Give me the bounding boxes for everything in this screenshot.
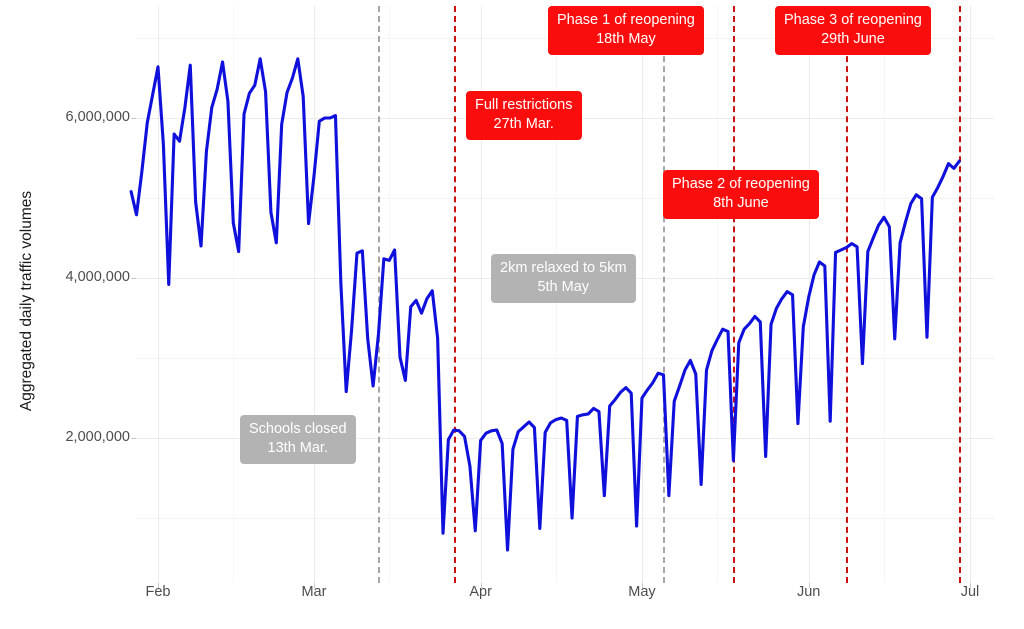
y-axis-tick-label: 6,000,000	[54, 109, 130, 125]
annotation-schools-closed: Schools closed13th Mar.	[240, 415, 356, 464]
x-axis-tick-mark	[314, 583, 315, 588]
y-axis-tick-mark	[131, 278, 136, 279]
annotation-line-1: Phase 1 of reopening	[557, 11, 695, 30]
annotation-line-1: Phase 2 of reopening	[672, 175, 810, 194]
x-axis-tick-mark	[642, 583, 643, 588]
annotation-line-1: Phase 3 of reopening	[784, 11, 922, 30]
x-axis-tick-mark	[809, 583, 810, 588]
annotation-line-2: 8th June	[672, 194, 810, 213]
y-axis-tick-mark	[131, 438, 136, 439]
traffic-volume-chart: 2,000,0004,000,0006,000,000 FebMarAprMay…	[0, 0, 1024, 629]
annotation-line-2: 29th June	[784, 30, 922, 49]
annotation-2km-to-5km: 2km relaxed to 5km5th May	[491, 254, 636, 303]
annotation-line-1: 2km relaxed to 5km	[500, 259, 627, 278]
annotation-phase-3-reopening: Phase 3 of reopening29th June	[775, 6, 931, 55]
x-axis-tick-mark	[481, 583, 482, 588]
annotation-line-1: Schools closed	[249, 420, 347, 439]
y-axis-tick-mark	[131, 118, 136, 119]
annotation-line-2: 18th May	[557, 30, 695, 49]
y-axis-tick-label: 4,000,000	[54, 269, 130, 285]
annotation-full-restrictions: Full restrictions27th Mar.	[466, 91, 582, 140]
annotation-line-2: 5th May	[500, 278, 627, 297]
x-axis-tick-mark	[158, 583, 159, 588]
annotation-phase-2-reopening: Phase 2 of reopening8th June	[663, 170, 819, 219]
annotation-line-2: 13th Mar.	[249, 439, 347, 458]
y-axis-tick-label: 2,000,000	[54, 429, 130, 445]
y-axis-title: Aggregated daily traffic volumes	[18, 31, 36, 571]
annotation-line-1: Full restrictions	[475, 96, 573, 115]
x-axis-tick-mark	[970, 583, 971, 588]
annotation-line-2: 27th Mar.	[475, 115, 573, 134]
annotation-phase-1-reopening: Phase 1 of reopening18th May	[548, 6, 704, 55]
